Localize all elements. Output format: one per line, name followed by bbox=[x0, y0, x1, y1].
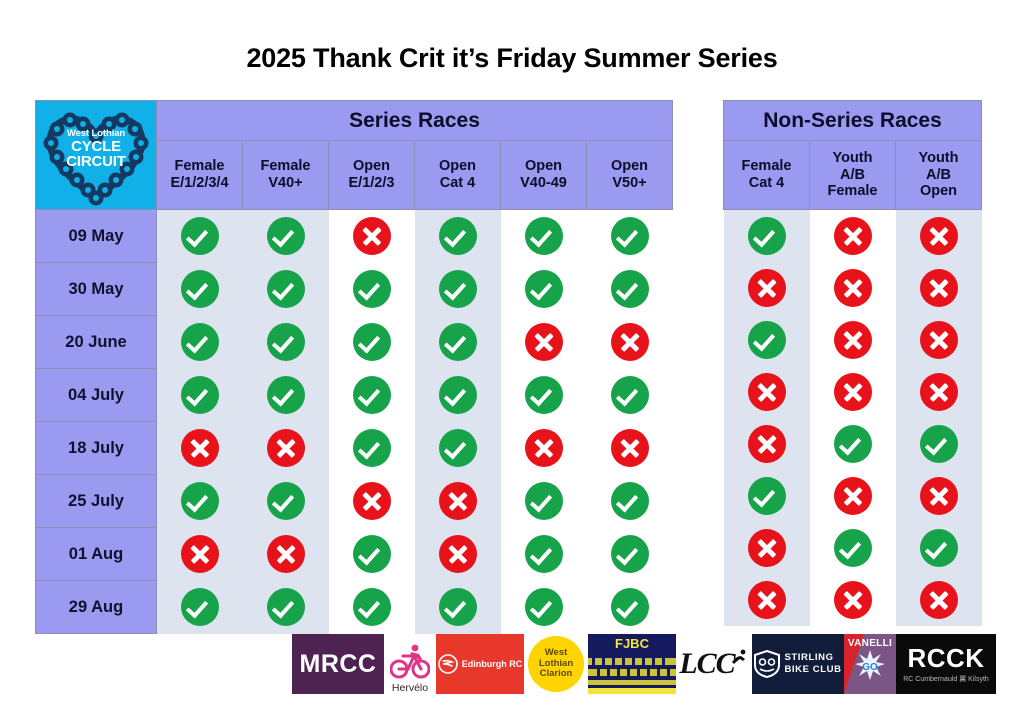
status-cell bbox=[724, 418, 810, 470]
sponsor-sublabel-rcck: RC Cumbernauld 翼 Kilsyth bbox=[903, 674, 989, 684]
status-cell bbox=[724, 522, 810, 574]
status-cell bbox=[724, 314, 810, 366]
status-cell bbox=[157, 369, 243, 422]
fjbc-stripes-icon bbox=[588, 656, 676, 694]
check-icon bbox=[834, 529, 872, 567]
check-icon bbox=[353, 376, 391, 414]
schedule-tables: West Lothian CYCLE CIRCUIT Series Races … bbox=[0, 100, 1024, 625]
race-date-cell: 04 July bbox=[36, 369, 157, 422]
check-icon bbox=[748, 321, 786, 359]
status-cell bbox=[501, 528, 587, 581]
sponsor-logo-west-lothian-clarion: West Lothian Clarion bbox=[524, 634, 588, 694]
nonseries-column-header-row: Female Cat 4 Youth A/B Female Youth A/B … bbox=[724, 141, 982, 210]
status-cell bbox=[329, 581, 415, 634]
cross-icon bbox=[920, 581, 958, 619]
status-cell bbox=[587, 316, 673, 369]
check-icon bbox=[611, 535, 649, 573]
cross-icon bbox=[920, 321, 958, 359]
series-group-label: Series Races bbox=[157, 101, 673, 141]
table-row bbox=[724, 210, 982, 263]
table-row bbox=[724, 522, 982, 574]
check-icon bbox=[525, 376, 563, 414]
col-label-line1: Open bbox=[329, 158, 414, 175]
status-cell bbox=[415, 263, 501, 316]
sponsor-logo-lcc: LCC bbox=[676, 634, 752, 694]
check-icon bbox=[920, 529, 958, 567]
status-cell bbox=[587, 210, 673, 263]
series-races-table: West Lothian CYCLE CIRCUIT Series Races … bbox=[35, 100, 673, 634]
status-cell bbox=[896, 574, 982, 626]
status-cell bbox=[243, 210, 329, 263]
check-icon bbox=[353, 588, 391, 626]
check-icon bbox=[181, 270, 219, 308]
col-label-line1: Open bbox=[415, 158, 500, 175]
check-icon bbox=[525, 588, 563, 626]
table-row: 09 May bbox=[36, 210, 673, 263]
status-cell bbox=[810, 366, 896, 418]
check-icon bbox=[267, 323, 305, 361]
status-cell bbox=[415, 422, 501, 475]
status-cell bbox=[587, 369, 673, 422]
check-icon bbox=[525, 482, 563, 520]
nonseries-col-youth-ab-open: Youth A/B Open bbox=[896, 141, 982, 210]
status-cell bbox=[724, 470, 810, 522]
col-label-line2: A/B bbox=[896, 167, 981, 184]
status-cell bbox=[810, 522, 896, 574]
sponsor-logo-strip: MRCC Hervélo Edinburgh RC West Lothian C… bbox=[292, 634, 996, 694]
status-cell bbox=[896, 210, 982, 263]
cross-icon bbox=[748, 373, 786, 411]
status-cell bbox=[587, 422, 673, 475]
status-cell bbox=[587, 475, 673, 528]
status-cell bbox=[724, 574, 810, 626]
cross-icon bbox=[748, 425, 786, 463]
check-icon bbox=[181, 323, 219, 361]
cross-icon bbox=[834, 373, 872, 411]
col-label-line2: Cat 4 bbox=[724, 175, 809, 192]
sponsor-label-stirling-line1: STIRLING bbox=[784, 652, 841, 664]
check-icon bbox=[181, 217, 219, 255]
status-cell bbox=[329, 528, 415, 581]
cross-icon bbox=[748, 269, 786, 307]
race-date-cell: 09 May bbox=[36, 210, 157, 263]
status-cell bbox=[415, 210, 501, 263]
check-icon bbox=[834, 425, 872, 463]
col-label-line2: E/1/2/3 bbox=[329, 175, 414, 192]
check-icon bbox=[181, 482, 219, 520]
status-cell bbox=[243, 422, 329, 475]
check-icon bbox=[611, 270, 649, 308]
table-row bbox=[724, 574, 982, 626]
check-icon bbox=[181, 588, 219, 626]
check-icon bbox=[525, 535, 563, 573]
status-cell bbox=[501, 581, 587, 634]
cross-icon bbox=[439, 535, 477, 573]
vanelli-go-burst-icon: GO bbox=[855, 650, 885, 680]
cross-icon bbox=[834, 477, 872, 515]
col-label-line2: V50+ bbox=[587, 175, 672, 192]
check-icon bbox=[611, 482, 649, 520]
status-cell bbox=[415, 581, 501, 634]
non-series-races-table: Non-Series Races Female Cat 4 Youth A/B … bbox=[723, 100, 982, 626]
shield-icon bbox=[754, 650, 780, 678]
cross-icon bbox=[920, 269, 958, 307]
sponsor-logo-fjbc: FJBC bbox=[588, 634, 676, 694]
status-cell bbox=[243, 263, 329, 316]
col-label-line2: V40+ bbox=[243, 175, 328, 192]
table-row: 25 July bbox=[36, 475, 673, 528]
status-cell bbox=[157, 210, 243, 263]
table-row bbox=[724, 418, 982, 470]
check-icon bbox=[353, 535, 391, 573]
status-cell bbox=[329, 316, 415, 369]
cross-icon bbox=[353, 217, 391, 255]
edinburgh-rc-mark-icon bbox=[438, 654, 458, 674]
status-cell bbox=[587, 528, 673, 581]
status-cell bbox=[724, 210, 810, 263]
col-label-line2: A/B bbox=[810, 167, 895, 184]
check-icon bbox=[611, 588, 649, 626]
nonseries-group-header-row: Non-Series Races bbox=[724, 101, 982, 141]
col-label-line2: E/1/2/3/4 bbox=[157, 175, 242, 192]
sponsor-logo-vanelli-go: VANELLI GO bbox=[844, 634, 896, 694]
cross-icon bbox=[834, 321, 872, 359]
col-label-line1: Open bbox=[501, 158, 586, 175]
check-icon bbox=[611, 376, 649, 414]
status-cell bbox=[896, 314, 982, 366]
cross-icon bbox=[834, 581, 872, 619]
cross-icon bbox=[525, 429, 563, 467]
col-label-line1: Female bbox=[243, 158, 328, 175]
nonseries-col-female-cat4: Female Cat 4 bbox=[724, 141, 810, 210]
cross-icon bbox=[181, 535, 219, 573]
sponsor-logo-mrcc: MRCC bbox=[292, 634, 384, 694]
series-col-open-v50: Open V50+ bbox=[587, 141, 673, 210]
table-row bbox=[724, 470, 982, 522]
nonseries-table-body bbox=[724, 210, 982, 627]
cross-icon bbox=[748, 529, 786, 567]
series-table-body: 09 May30 May20 June04 July18 July25 July… bbox=[36, 210, 673, 634]
check-icon bbox=[748, 217, 786, 255]
check-icon bbox=[439, 323, 477, 361]
col-label-line1: Youth bbox=[896, 150, 981, 167]
status-cell bbox=[501, 475, 587, 528]
race-date-cell: 20 June bbox=[36, 316, 157, 369]
check-icon bbox=[267, 588, 305, 626]
status-cell bbox=[243, 475, 329, 528]
check-icon bbox=[439, 588, 477, 626]
table-row: 29 Aug bbox=[36, 581, 673, 634]
status-cell bbox=[501, 263, 587, 316]
status-cell bbox=[243, 528, 329, 581]
check-icon bbox=[748, 477, 786, 515]
check-icon bbox=[181, 376, 219, 414]
series-group-header-row: West Lothian CYCLE CIRCUIT Series Races bbox=[36, 101, 673, 141]
status-cell bbox=[329, 210, 415, 263]
nonseries-group-label: Non-Series Races bbox=[724, 101, 982, 141]
status-cell bbox=[329, 475, 415, 528]
check-icon bbox=[439, 217, 477, 255]
status-cell bbox=[415, 528, 501, 581]
status-cell bbox=[810, 314, 896, 366]
status-cell bbox=[243, 316, 329, 369]
status-cell bbox=[157, 581, 243, 634]
status-cell bbox=[243, 369, 329, 422]
table-row: 20 June bbox=[36, 316, 673, 369]
status-cell bbox=[501, 210, 587, 263]
series-col-open-v4049: Open V40-49 bbox=[501, 141, 587, 210]
heart-bike-chain-icon bbox=[36, 102, 156, 209]
page-title: 2025 Thank Crit it’s Friday Summer Serie… bbox=[0, 0, 1024, 74]
status-cell bbox=[896, 262, 982, 314]
sponsor-label-edinburgh-rc: Edinburgh RC bbox=[462, 659, 523, 669]
cross-icon bbox=[353, 482, 391, 520]
race-date-cell: 25 July bbox=[36, 475, 157, 528]
race-date-cell: 29 Aug bbox=[36, 581, 157, 634]
cross-icon bbox=[267, 535, 305, 573]
table-row bbox=[724, 366, 982, 418]
col-label-line1: Open bbox=[587, 158, 672, 175]
check-icon bbox=[439, 376, 477, 414]
sponsor-label-west-lothian-clarion: West Lothian Clarion bbox=[528, 636, 584, 692]
cross-icon bbox=[439, 482, 477, 520]
status-cell bbox=[501, 316, 587, 369]
cross-icon bbox=[834, 269, 872, 307]
check-icon bbox=[353, 323, 391, 361]
sponsor-label-stirling-line2: BIKE CLUB bbox=[784, 664, 841, 676]
col-label-line1: Youth bbox=[810, 150, 895, 167]
check-icon bbox=[439, 270, 477, 308]
table-row: 30 May bbox=[36, 263, 673, 316]
sponsor-logo-hervelo: Hervélo bbox=[384, 634, 436, 695]
sponsor-label-vanelli: VANELLI bbox=[848, 634, 892, 649]
col-label-line1: Female bbox=[157, 158, 242, 175]
cross-icon bbox=[611, 429, 649, 467]
svg-text:GO: GO bbox=[862, 662, 878, 673]
table-row: 04 July bbox=[36, 369, 673, 422]
check-icon bbox=[267, 217, 305, 255]
status-cell bbox=[587, 581, 673, 634]
status-cell bbox=[896, 522, 982, 574]
check-icon bbox=[353, 429, 391, 467]
cross-icon bbox=[748, 581, 786, 619]
series-table: West Lothian CYCLE CIRCUIT Series Races … bbox=[35, 100, 673, 634]
cross-icon bbox=[920, 217, 958, 255]
status-cell bbox=[810, 210, 896, 263]
status-cell bbox=[724, 366, 810, 418]
status-cell bbox=[157, 528, 243, 581]
status-cell bbox=[896, 470, 982, 522]
status-cell bbox=[896, 418, 982, 470]
series-col-female-e1234: Female E/1/2/3/4 bbox=[157, 141, 243, 210]
check-icon bbox=[353, 270, 391, 308]
sponsor-label-hervelo: Hervélo bbox=[392, 682, 428, 694]
sponsor-label-lcc: LCC bbox=[679, 647, 734, 681]
status-cell bbox=[329, 422, 415, 475]
status-cell bbox=[501, 369, 587, 422]
race-date-cell: 01 Aug bbox=[36, 528, 157, 581]
nonseries-table: Non-Series Races Female Cat 4 Youth A/B … bbox=[723, 100, 982, 626]
col-label-line1: Female bbox=[724, 158, 809, 175]
race-date-cell: 18 July bbox=[36, 422, 157, 475]
status-cell bbox=[415, 475, 501, 528]
status-cell bbox=[329, 369, 415, 422]
status-cell bbox=[587, 263, 673, 316]
col-label-line3: Female bbox=[810, 183, 895, 200]
check-icon bbox=[439, 429, 477, 467]
status-cell bbox=[329, 263, 415, 316]
check-icon bbox=[920, 425, 958, 463]
table-row: 18 July bbox=[36, 422, 673, 475]
check-icon bbox=[267, 482, 305, 520]
cross-icon bbox=[181, 429, 219, 467]
status-cell bbox=[243, 581, 329, 634]
series-col-open-cat4: Open Cat 4 bbox=[415, 141, 501, 210]
status-cell bbox=[157, 263, 243, 316]
status-cell bbox=[501, 422, 587, 475]
status-cell bbox=[157, 422, 243, 475]
col-label-line3: Open bbox=[896, 183, 981, 200]
col-label-line2: V40-49 bbox=[501, 175, 586, 192]
cross-icon bbox=[525, 323, 563, 361]
check-icon bbox=[525, 270, 563, 308]
status-cell bbox=[896, 366, 982, 418]
sponsor-label-fjbc: FJBC bbox=[615, 634, 649, 651]
cross-icon bbox=[920, 477, 958, 515]
cyclist-icon bbox=[390, 642, 430, 682]
sponsor-logo-rcck: RCCK RC Cumbernauld 翼 Kilsyth bbox=[896, 634, 996, 694]
status-cell bbox=[810, 418, 896, 470]
check-icon bbox=[267, 270, 305, 308]
status-cell bbox=[810, 470, 896, 522]
table-row bbox=[724, 314, 982, 366]
check-icon bbox=[611, 217, 649, 255]
series-col-female-v40: Female V40+ bbox=[243, 141, 329, 210]
status-cell bbox=[810, 262, 896, 314]
status-cell bbox=[724, 262, 810, 314]
lcc-cyclist-icon bbox=[729, 648, 749, 668]
sponsor-logo-stirling-bike-club: STIRLING BIKE CLUB bbox=[752, 634, 844, 694]
status-cell bbox=[157, 475, 243, 528]
cross-icon bbox=[267, 429, 305, 467]
status-cell bbox=[415, 316, 501, 369]
cross-icon bbox=[611, 323, 649, 361]
check-icon bbox=[267, 376, 305, 414]
race-date-cell: 30 May bbox=[36, 263, 157, 316]
col-label-line2: Cat 4 bbox=[415, 175, 500, 192]
status-cell bbox=[157, 316, 243, 369]
sponsor-label-rcck: RCCK bbox=[907, 645, 984, 671]
table-row: 01 Aug bbox=[36, 528, 673, 581]
cross-icon bbox=[920, 373, 958, 411]
table-row bbox=[724, 262, 982, 314]
status-cell bbox=[810, 574, 896, 626]
series-col-open-e123: Open E/1/2/3 bbox=[329, 141, 415, 210]
club-logo: West Lothian CYCLE CIRCUIT bbox=[36, 101, 157, 210]
status-cell bbox=[415, 369, 501, 422]
check-icon bbox=[525, 217, 563, 255]
nonseries-col-youth-ab-female: Youth A/B Female bbox=[810, 141, 896, 210]
sponsor-logo-edinburgh-rc: Edinburgh RC bbox=[436, 634, 524, 694]
sponsor-label-mrcc: MRCC bbox=[300, 650, 377, 679]
cross-icon bbox=[834, 217, 872, 255]
